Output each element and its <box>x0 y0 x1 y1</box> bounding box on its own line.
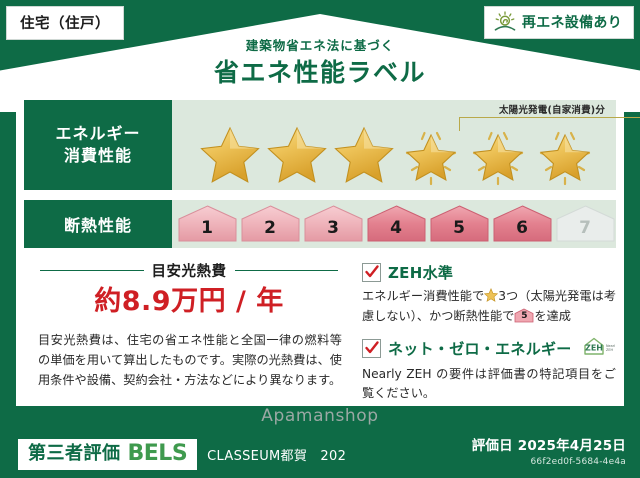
header-title-block: 建築物省エネ法に基づく 省エネ性能ラベル <box>0 40 640 85</box>
utility-cost-note: 目安光熱費は、住宅の省エネ性能と全国一律の燃料等の単価を用いて算出したものです。… <box>24 331 354 390</box>
check-icon <box>362 263 381 282</box>
label-body-panel: エネルギー 消費性能 太陽光発電(自家消費)分 <box>16 96 624 406</box>
criterion-net-zero-energy-body: Nearly ZEH の要件は評価書の特記項目をご覧ください。 <box>362 365 616 405</box>
house-icon: 4 <box>366 204 427 244</box>
criterion-net-zero-energy-title: ネット・ゼロ・エネルギー <box>388 338 572 359</box>
star-rating-group <box>172 122 616 186</box>
house-icon: 6 <box>492 204 553 244</box>
insulation-level-number: 3 <box>327 220 339 244</box>
star-icon <box>532 122 598 186</box>
star-icon <box>264 122 330 186</box>
heading-rule-left <box>40 270 144 272</box>
insulation-level-group: 1 2 3 <box>172 204 616 244</box>
utility-cost-section: 目安光熱費 約8.9万円 / 年 目安光熱費は、住宅の省エネ性能と全国一律の燃料… <box>24 256 354 402</box>
star-icon <box>484 288 498 302</box>
house-type-badge: 住宅（住戸） <box>6 6 124 40</box>
house-icon: 2 <box>240 204 301 244</box>
building-name: CLASSEUM都賀 202 <box>207 445 346 464</box>
insulation-level-number: 7 <box>579 220 591 244</box>
renewable-equipment-badge: 再エネ設備あり <box>484 6 634 39</box>
house-icon: 5 <box>429 204 490 244</box>
insulation-performance-row: 断熱性能 1 <box>24 200 616 248</box>
check-icon <box>362 339 381 358</box>
criterion-zeh-level-title: ZEH水準 <box>388 262 453 283</box>
bels-logo-jp: 第三者評価 <box>28 445 121 463</box>
insulation-level-number: 5 <box>453 220 465 244</box>
sun-renewable-icon <box>493 11 517 33</box>
heading-rule-right <box>235 270 339 272</box>
insulation-rating-area: 1 2 3 <box>172 200 616 248</box>
page-title: 省エネ性能ラベル <box>0 60 640 85</box>
star-icon <box>398 122 464 186</box>
label-footer: 第三者評価 BELS CLASSEUM都賀 202 評価日 2025年4月25日… <box>0 430 640 478</box>
criterion-body-pre: エネルギー消費性能で <box>362 289 484 303</box>
inline-insulation-level: 5 <box>514 309 534 324</box>
evaluation-id: 66f2ed0f-5684-4e4a <box>472 457 626 467</box>
energy-performance-row: エネルギー 消費性能 太陽光発電(自家消費)分 <box>24 100 616 190</box>
renewable-badge-label: 再エネ設備あり <box>522 12 622 32</box>
svg-text:ZEH: ZEH <box>606 348 613 352</box>
star-icon <box>465 122 531 186</box>
energy-label-root: 建築物省エネ法に基づく 省エネ性能ラベル 住宅（住戸） 再エネ設備あり <box>0 0 640 478</box>
criterion-zeh-level: ZEH水準 エネルギー消費性能で3つ（太陽光発電は考慮しない）、かつ断熱性能で5… <box>362 262 616 327</box>
header-subtitle: 建築物省エネ法に基づく <box>0 40 640 53</box>
energy-label-line2: 消費性能 <box>64 145 132 167</box>
bels-logo: 第三者評価 BELS <box>18 439 197 470</box>
house-icon: 1 <box>177 204 238 244</box>
criterion-net-zero-energy-head: ネット・ゼロ・エネルギー ZEH Nearly ZEH <box>362 336 616 361</box>
criterion-zeh-level-head: ZEH水準 <box>362 262 616 283</box>
house-icon: 7 <box>555 204 616 244</box>
energy-rating-area: 太陽光発電(自家消費)分 <box>172 100 616 190</box>
star-icon <box>331 122 397 186</box>
star-icon <box>197 122 263 186</box>
watermark: Apamanshop <box>0 406 640 426</box>
insulation-level-number: 2 <box>264 220 276 244</box>
house-icon: 5 <box>514 308 534 323</box>
energy-performance-label: エネルギー 消費性能 <box>24 100 172 190</box>
solar-bracket-caption: 太陽光発電(自家消費)分 <box>459 102 640 116</box>
energy-label-line1: エネルギー <box>55 123 140 145</box>
insulation-level-number: 1 <box>201 220 213 244</box>
zeh-logo-icon: ZEH Nearly ZEH <box>579 336 615 361</box>
svg-text:ZEH: ZEH <box>585 343 603 352</box>
lower-section: 目安光熱費 約8.9万円 / 年 目安光熱費は、住宅の省エネ性能と全国一律の燃料… <box>24 256 616 402</box>
insulation-performance-label: 断熱性能 <box>24 200 172 248</box>
evaluation-info: 評価日 2025年4月25日 66f2ed0f-5684-4e4a <box>472 438 626 467</box>
criterion-net-zero-energy: ネット・ゼロ・エネルギー ZEH Nearly ZEH Nearly ZEH の… <box>362 336 616 405</box>
utility-cost-heading-label: 目安光熱費 <box>152 260 227 281</box>
bels-logo-en: BELS <box>128 443 188 465</box>
house-icon: 3 <box>303 204 364 244</box>
criteria-section: ZEH水準 エネルギー消費性能で3つ（太陽光発電は考慮しない）、かつ断熱性能で5… <box>354 256 616 402</box>
utility-cost-heading: 目安光熱費 <box>24 260 354 281</box>
evaluation-date: 評価日 2025年4月25日 <box>472 438 626 454</box>
utility-cost-value: 約8.9万円 / 年 <box>24 288 354 315</box>
criterion-zeh-level-body: エネルギー消費性能で3つ（太陽光発電は考慮しない）、かつ断熱性能で5を達成 <box>362 287 616 327</box>
criterion-body-post: を達成 <box>534 309 571 323</box>
insulation-level-number: 6 <box>516 220 528 244</box>
insulation-level-number: 4 <box>390 220 402 244</box>
